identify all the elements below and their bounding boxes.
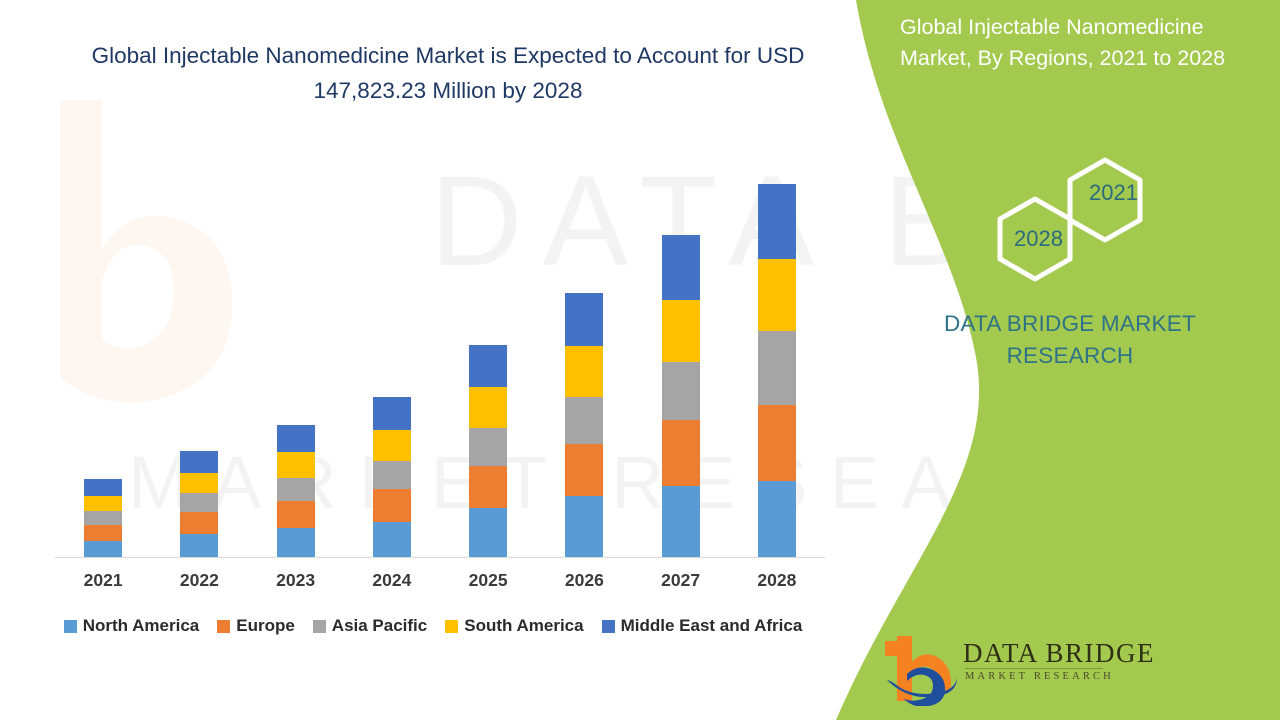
bar-segment-north-america [565,496,603,558]
panel-content: Global Injectable Nanomedicine Market, B… [860,0,1280,720]
bar-segment-north-america [469,508,507,558]
legend-swatch-icon [64,620,77,633]
bar-column-2023 [248,120,344,558]
bar-segment-europe [180,512,218,534]
bar-segment-asia-pacific [565,397,603,444]
bar-segment-middle-east-and-africa [373,397,411,430]
bar-column-2021 [55,120,151,558]
x-axis-tick-labels: 20212022202320242025202620272028 [55,570,825,591]
bar-segment-asia-pacific [662,362,700,420]
legend-swatch-icon [217,620,230,633]
bar-stack [469,345,507,558]
bar-stack [565,293,603,558]
hexagon-label-back: 2028 [1014,226,1063,252]
bar-segment-europe [84,525,122,541]
legend-label: North America [83,616,200,636]
legend-swatch-icon [313,620,326,633]
bar-column-2026 [536,120,632,558]
x-tick-2025: 2025 [440,570,536,591]
panel-heading: Global Injectable Nanomedicine Market, B… [900,12,1270,74]
bar-segment-asia-pacific [469,428,507,466]
bar-segment-asia-pacific [373,461,411,489]
hexagon-pair: 2021 2028 [970,148,1180,283]
bar-segment-south-america [565,346,603,397]
bar-segment-south-america [469,387,507,428]
legend-swatch-icon [445,620,458,633]
bar-segment-europe [758,405,796,481]
infographic-canvas: DATA BRIDGE MARKET RESEARCH Global Injec… [0,0,1280,720]
bar-segment-south-america [758,259,796,331]
bar-segment-middle-east-and-africa [277,425,315,452]
bar-segment-europe [277,501,315,528]
legend-label: Asia Pacific [332,616,427,636]
legend-label: South America [464,616,583,636]
bar-segment-north-america [277,528,315,558]
bar-segment-europe [565,444,603,496]
bar-segment-north-america [84,541,122,558]
bar-column-2028 [729,120,825,558]
bar-stack [180,451,218,558]
bar-segment-middle-east-and-africa [180,451,218,473]
bar-stack [84,479,122,558]
bar-segment-middle-east-and-africa [565,293,603,346]
bar-column-2025 [440,120,536,558]
x-axis-line [55,557,825,558]
bar-segment-north-america [662,486,700,558]
bar-stack [373,397,411,558]
dbmr-logo-divider [965,668,1103,669]
bar-column-2027 [633,120,729,558]
x-tick-2024: 2024 [344,570,440,591]
bar-segment-middle-east-and-africa [469,345,507,387]
brand-line-1: DATA BRIDGE MARKET [860,308,1280,340]
bar-segment-europe [373,489,411,522]
brand-name: DATA BRIDGE MARKET RESEARCH [860,308,1280,372]
x-tick-2022: 2022 [151,570,247,591]
bar-column-2022 [151,120,247,558]
x-tick-2021: 2021 [55,570,151,591]
chart-plot-area [55,120,825,558]
hexagon-label-front: 2021 [1089,180,1138,206]
x-tick-2023: 2023 [248,570,344,591]
legend-label: Europe [236,616,295,636]
bar-segment-north-america [373,522,411,558]
bar-stack [758,184,796,558]
bar-segment-middle-east-and-africa [84,479,122,496]
dbmr-logo: DATA BRIDGE MARKET RESEARCH [885,632,1105,706]
bar-segment-asia-pacific [180,493,218,512]
legend-item-asia-pacific[interactable]: Asia Pacific [313,616,427,636]
legend-item-south-america[interactable]: South America [445,616,583,636]
bar-segment-south-america [373,430,411,461]
x-tick-2026: 2026 [536,570,632,591]
x-tick-2028: 2028 [729,570,825,591]
hexagon-outline-icon [970,148,1180,283]
brand-line-2: RESEARCH [860,340,1280,372]
bar-segment-asia-pacific [84,511,122,525]
legend-label: Middle East and Africa [621,616,803,636]
bar-stack [662,235,700,558]
x-tick-2027: 2027 [633,570,729,591]
dbmr-tagline: MARKET RESEARCH [965,671,1114,682]
bar-segment-north-america [180,534,218,558]
legend-item-middle-east-and-africa[interactable]: Middle East and Africa [602,616,803,636]
bar-column-2024 [344,120,440,558]
bar-stack [277,425,315,558]
chart-legend: North AmericaEuropeAsia PacificSouth Ame… [38,616,828,636]
bar-segment-south-america [277,452,315,478]
dbmr-wordmark: DATA BRIDGE [963,638,1155,669]
legend-item-north-america[interactable]: North America [64,616,200,636]
bar-segment-asia-pacific [758,331,796,405]
bar-segment-middle-east-and-africa [758,184,796,259]
legend-swatch-icon [602,620,615,633]
bar-segment-south-america [662,300,700,362]
bar-segment-north-america [758,481,796,558]
dbmr-logo-mark-icon [885,632,959,706]
bar-segment-middle-east-and-africa [662,235,700,300]
bar-segment-europe [662,420,700,486]
legend-item-europe[interactable]: Europe [217,616,295,636]
page-title: Global Injectable Nanomedicine Market is… [38,38,858,108]
bar-segment-asia-pacific [277,478,315,501]
bar-segment-south-america [180,473,218,493]
bar-segment-south-america [84,496,122,511]
bar-segment-europe [469,466,507,508]
stacked-bar-group [55,120,825,558]
